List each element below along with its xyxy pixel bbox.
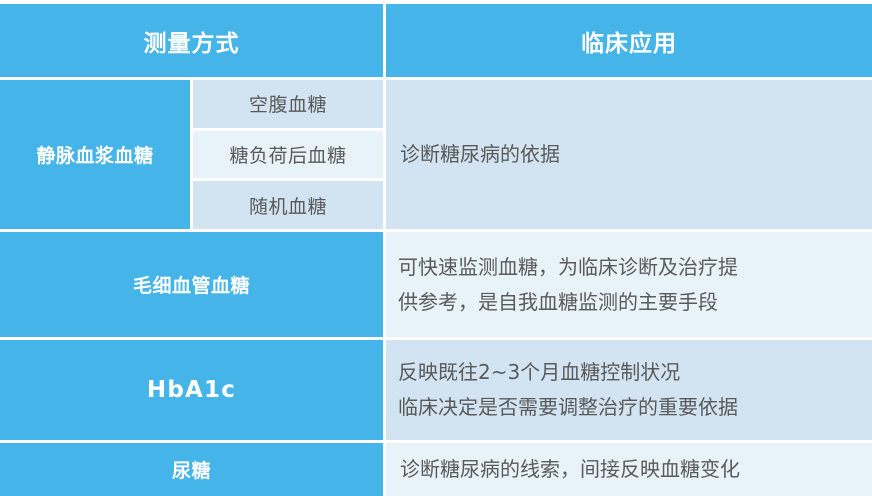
row-label-hba1c: HbA1c xyxy=(0,340,383,440)
application-cell-hba1c: 反映既往2~3个月血糖控制状况 临床决定是否需要调整治疗的重要依据 xyxy=(386,340,872,440)
row-label-capillary-glucose: 毛细血管血糖 xyxy=(0,232,383,337)
application-line: 临床决定是否需要调整治疗的重要依据 xyxy=(398,390,862,425)
header-cell-application: 临床应用 xyxy=(386,4,872,77)
table-row: 毛细血管血糖 可快速监测血糖，为临床诊断及治疗提 供参考，是自我血糖监测的主要手… xyxy=(0,232,872,337)
table-row: 尿糖 诊断糖尿病的线索，间接反映血糖变化 xyxy=(0,443,872,496)
table-header-row: 测量方式 临床应用 xyxy=(0,4,872,77)
table-row: 静脉血浆血糖 空腹血糖 糖负荷后血糖 随机血糖 诊断糖尿病的依据 xyxy=(0,80,872,229)
application-line: 供参考，是自我血糖监测的主要手段 xyxy=(398,285,862,320)
row-label-venous-plasma-glucose: 静脉血浆血糖 xyxy=(0,80,190,229)
application-line: 反映既往2~3个月血糖控制状况 xyxy=(398,355,862,390)
subitem-random-glucose: 随机血糖 xyxy=(193,181,383,229)
table-row: HbA1c 反映既往2~3个月血糖控制状况 临床决定是否需要调整治疗的重要依据 xyxy=(0,340,872,440)
row-label-urine-glucose: 尿糖 xyxy=(0,443,383,496)
application-line: 诊断糖尿病的线索，间接反映血糖变化 xyxy=(400,452,862,487)
application-cell-venous: 诊断糖尿病的依据 xyxy=(386,80,872,229)
subitem-post-load-glucose: 糖负荷后血糖 xyxy=(193,131,383,179)
subitem-column-venous: 空腹血糖 糖负荷后血糖 随机血糖 xyxy=(193,80,383,229)
application-line: 可快速监测血糖，为临床诊断及治疗提 xyxy=(398,250,862,285)
subitem-fasting-glucose: 空腹血糖 xyxy=(193,80,383,128)
application-cell-capillary: 可快速监测血糖，为临床诊断及治疗提 供参考，是自我血糖监测的主要手段 xyxy=(386,232,872,337)
glucose-measurement-table: 测量方式 临床应用 静脉血浆血糖 空腹血糖 糖负荷后血糖 随机血糖 诊断糖尿病的… xyxy=(0,0,872,493)
table-grid: 测量方式 临床应用 静脉血浆血糖 空腹血糖 糖负荷后血糖 随机血糖 诊断糖尿病的… xyxy=(0,4,872,496)
header-cell-method: 测量方式 xyxy=(0,4,383,77)
application-cell-urine: 诊断糖尿病的线索，间接反映血糖变化 xyxy=(386,443,872,496)
application-line: 诊断糖尿病的依据 xyxy=(400,137,862,172)
